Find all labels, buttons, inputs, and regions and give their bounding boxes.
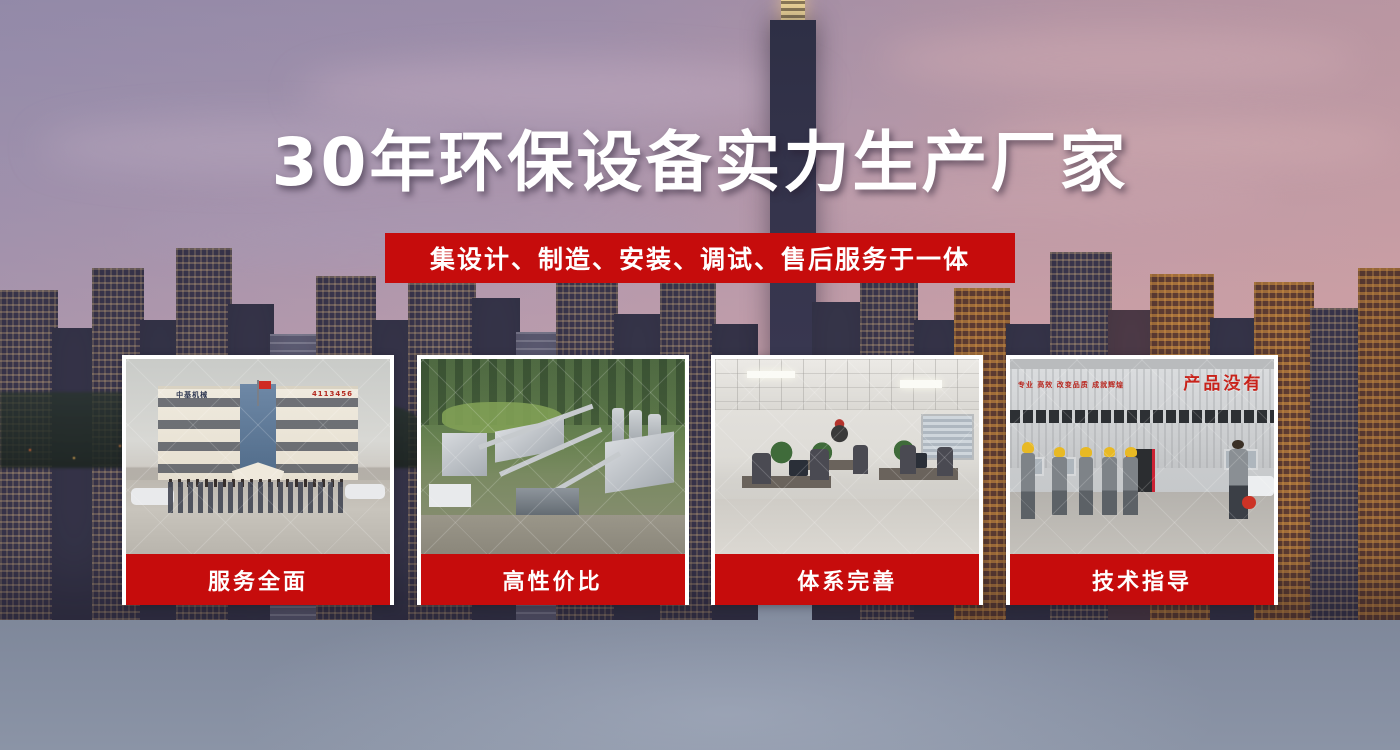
building-sign-text: 中基机械 [176,390,208,400]
subtitle-text: 集设计、制造、安装、调试、售后服务于一体 [430,240,970,276]
factory-wall-slogan: 产品没有 [1183,369,1263,394]
feature-card-guidance[interactable]: 产品没有 专业 高效 改变品质 成就辉煌 技术指导 [1006,355,1278,605]
factory-workers-photo: 产品没有 专业 高效 改变品质 成就辉煌 [1010,359,1274,554]
feature-card-system[interactable]: 体系完善 [711,355,983,605]
building-phone-text: 4113456 [312,390,353,398]
feature-card-label: 技术指导 [1010,554,1274,605]
subtitle-banner: 集设计、制造、安装、调试、售后服务于一体 [385,233,1015,283]
feature-card-label: 体系完善 [715,554,979,605]
feature-card-list: 中基机械 4113456 服务全面 [122,355,1278,605]
feature-card-label: 高性价比 [421,554,685,605]
factory-wall-slogan-small: 专业 高效 改变品质 成就辉煌 [1018,380,1124,391]
office-interior-photo [715,359,979,554]
building [1310,308,1362,620]
promo-banner: 30年环保设备实力生产厂家 集设计、制造、安装、调试、售后服务于一体 中基机械 … [0,0,1400,750]
feature-card-service[interactable]: 中基机械 4113456 服务全面 [122,355,394,605]
page-title: 30年环保设备实力生产厂家 [0,128,1400,197]
aerial-plant-photo [421,359,685,554]
building [1358,268,1400,620]
feature-card-label: 服务全面 [126,554,390,605]
feature-card-value[interactable]: 高性价比 [417,355,689,605]
company-headquarters-photo: 中基机械 4113456 [126,359,390,554]
